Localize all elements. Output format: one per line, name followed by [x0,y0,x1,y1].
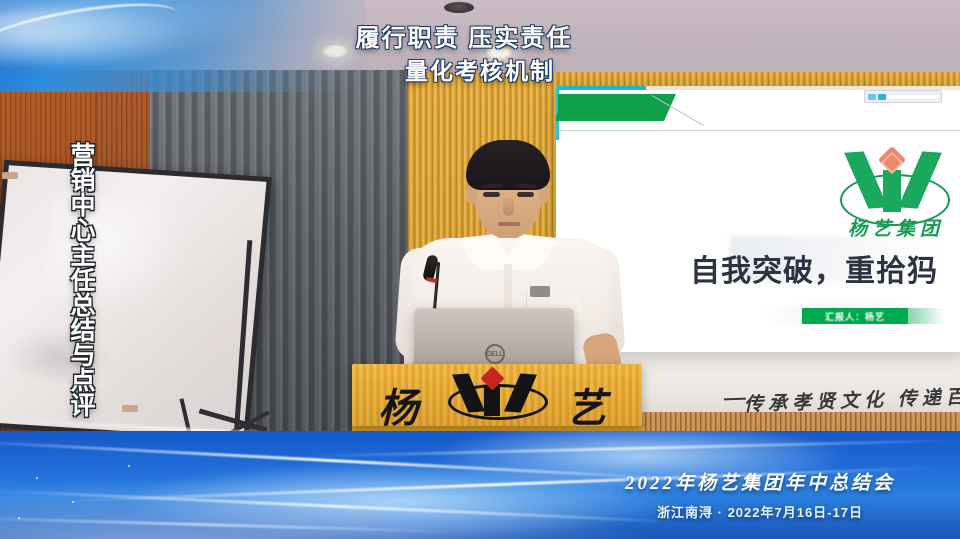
nose [503,198,514,216]
bottom-title-container: 2022年杨艺集团年中总结会 [560,468,960,495]
slide-badge-tail [908,308,944,324]
vertical-caption: 营销中心主任总结与点评 [48,142,94,417]
chip-field [888,95,938,99]
whiteboard-frame [0,160,272,444]
banner-headline-line2: 量化考核机制 [0,52,960,86]
whiteboard-clip [2,172,18,179]
sparkle [128,465,130,467]
podium-char-right: 艺 [566,376,606,434]
shirt-pocket-logo-icon [530,286,550,297]
event-subtitle: 浙江南浔 · 2022年7月16日-17日 [560,502,960,521]
laptop-brand-label: DELL [487,351,503,358]
slide-title: 自我突破，重拾犸 [690,246,960,290]
eye-left [483,192,500,197]
mouth [498,222,520,226]
slide-presenter-badge-label: 汇报人：杨艺 [825,310,885,323]
slide-presenter-badge: 汇报人：杨艺 [802,308,908,324]
sparkle [18,517,20,519]
eye-right [517,192,534,197]
hair [466,140,550,190]
whiteboard-surface [0,165,266,439]
whiteboard [0,168,260,436]
podium-char-left: 杨 [378,376,418,434]
slide-toolbar-chip [864,90,942,103]
podium-emblem [438,368,558,422]
laptop-brand-logo-icon: DELL [485,344,505,364]
sparkle [36,477,38,479]
chip-swatch-icon [878,94,886,100]
ceiling-vent-icon [444,2,474,13]
sparkle [72,501,74,503]
banner-headline-line1: 履行职责 压实责任 [0,18,944,53]
slide-divider [560,130,960,131]
video-frame: 杨艺集团 自我突破，重拾犸 汇报人：杨艺 传承孝贤文化 传递百 [0,0,960,539]
podium-emblem-stroke-center-icon [484,386,500,416]
brand-logo: 杨艺集团 [834,148,958,240]
bottom-subtitle-container: 浙江南浔 · 2022年7月16日-17日 [560,502,960,521]
chip-swatch-icon [868,94,876,100]
logo-stroke-center-icon [883,170,901,212]
whiteboard-clip [122,405,138,412]
event-title: 2022年杨艺集团年中总结会 [560,468,960,495]
